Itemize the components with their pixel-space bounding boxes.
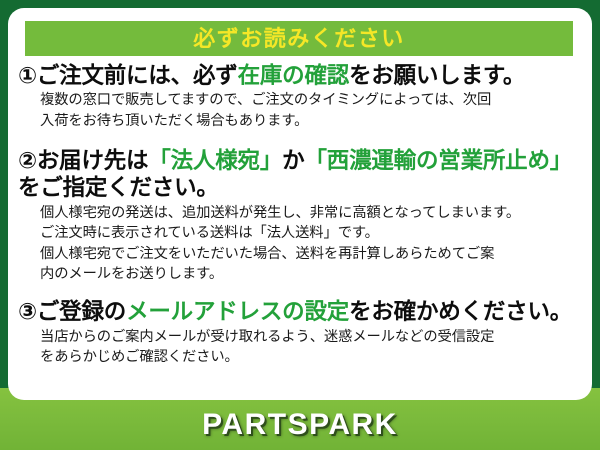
notice-item-1-body: 複数の窓口で販売してますので、ご注文のタイミングによっては、次回 入荷をお待ち頂… [40, 90, 584, 131]
heading-segment: か [282, 148, 304, 173]
heading-segment: をお確かめください。 [349, 299, 572, 324]
notice-content-card: 必ずお読みください ①ご注文前には、必ず在庫の確認をお願いします。 複数の窓口で… [8, 8, 592, 400]
body-line: 当店からのご案内メールが受け取れるよう、迷惑メールなどの受信設定 [40, 327, 584, 347]
footer: PARTSPARK [0, 400, 600, 450]
brand-logo: PARTSPARK [202, 410, 398, 440]
header-bar: 必ずお読みください [25, 21, 573, 56]
heading-segment: をご指定ください。 [18, 175, 219, 200]
page-title: 必ずお読みください [193, 28, 405, 50]
body-line: 複数の窓口で販売してますので、ご注文のタイミングによっては、次回 [40, 90, 584, 110]
heading-highlight: 在庫の確認 [238, 63, 350, 88]
heading-highlight: 「法人様宛」 [148, 148, 282, 173]
heading-segment: ②お届け先は [18, 148, 148, 173]
notice-item-2-heading: ②お届け先は「法人様宛」か「西濃運輸の営業所止め」をご指定ください。 [18, 147, 584, 202]
notice-item-1-heading: ①ご注文前には、必ず在庫の確認をお願いします。 [18, 62, 584, 89]
body-line: ご注文時に表示されている送料は「法人送料」です。 [40, 223, 584, 243]
body-line: 個人様宅宛でご注文をいただいた場合、送料を再計算しあらためてご案 [40, 244, 584, 264]
heading-segment: をお願いします。 [349, 63, 525, 88]
body-line: をあらかじめご確認ください。 [40, 347, 584, 367]
notice-banner: 必ずお読みください ①ご注文前には、必ず在庫の確認をお願いします。 複数の窓口で… [0, 0, 600, 450]
heading-highlight: メールアドレスの設定 [126, 299, 349, 324]
heading-segment: ③ご登録の [18, 299, 126, 324]
notice-item-3-body: 当店からのご案内メールが受け取れるよう、迷惑メールなどの受信設定 をあらかじめご… [40, 327, 584, 368]
heading-segment: ①ご注文前には、必ず [18, 63, 238, 88]
body-line: 内のメールをお送りします。 [40, 264, 584, 284]
heading-highlight: 「西濃運輸の営業所止め」 [304, 148, 572, 173]
notice-item-2-body: 個人様宅宛の発送は、追加送料が発生し、非常に高額となってしまいます。 ご注文時に… [40, 203, 584, 284]
notice-item-3-heading: ③ご登録のメールアドレスの設定をお確かめください。 [18, 298, 584, 325]
body-line: 入荷をお待ち頂いただく場合もあります。 [40, 111, 584, 131]
notice-item-3: ③ご登録のメールアドレスの設定をお確かめください。 当店からのご案内メールが受け… [8, 298, 592, 367]
notice-item-1: ①ご注文前には、必ず在庫の確認をお願いします。 複数の窓口で販売してますので、ご… [8, 62, 592, 131]
notice-item-list: ①ご注文前には、必ず在庫の確認をお願いします。 複数の窓口で販売してますので、ご… [8, 62, 592, 367]
body-line: 個人様宅宛の発送は、追加送料が発生し、非常に高額となってしまいます。 [40, 203, 584, 223]
notice-item-2: ②お届け先は「法人様宛」か「西濃運輸の営業所止め」をご指定ください。 個人様宅宛… [8, 147, 592, 284]
